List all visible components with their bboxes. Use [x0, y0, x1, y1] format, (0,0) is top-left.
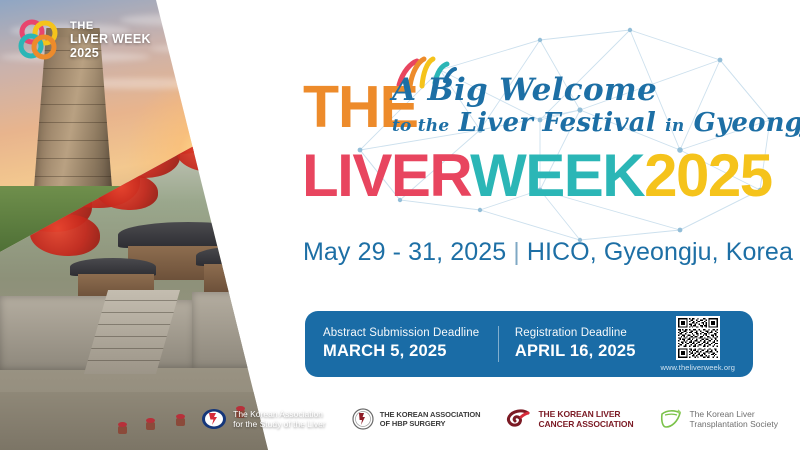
qr-block[interactable]: www.theliverweek.org	[660, 316, 735, 372]
sponsor-klca-line-2: CANCER ASSOCIATION	[538, 419, 633, 429]
registration-deadline-label: Registration Deadline	[515, 327, 661, 339]
sponsor-klca-line-1: THE KOREAN LIVER	[538, 409, 633, 419]
hero-script-city: Gyeongju, Korea!	[694, 108, 800, 138]
hero-script-festival: Liver Festival	[459, 108, 656, 138]
abstract-deadline-block: Abstract Submission Deadline MARCH 5, 20…	[323, 327, 496, 361]
hero-script-in: in	[665, 116, 684, 136]
sponsor-kahbps-text: THE KOREAN ASSOCIATION OF HBP SURGERY	[380, 410, 481, 428]
qr-code-icon[interactable]	[676, 316, 720, 360]
sponsor-klca-text: THE KOREAN LIVER CANCER ASSOCIATION	[538, 409, 633, 429]
conference-poster: THE LIVER WEEK 2025 THE A Big Welcome to…	[0, 0, 800, 450]
banner-divider	[498, 326, 499, 362]
hero-script-line-1: A Big Welcome	[392, 72, 657, 108]
abstract-deadline-label: Abstract Submission Deadline	[323, 327, 496, 339]
brand-lockup: THE LIVER WEEK 2025	[14, 16, 151, 64]
sponsor-klts[interactable]: The Korean Liver Transplantation Society	[659, 407, 778, 431]
klts-liver-logo-icon	[659, 407, 683, 431]
kasl-shield-logo-icon	[201, 408, 227, 430]
sponsor-kasl-text: The Korean Association for the Study of …	[233, 409, 326, 429]
sponsor-kasl[interactable]: The Korean Association for the Study of …	[201, 408, 326, 430]
hero-script-line-2: to the Liver Festival in Gyeongju, Korea…	[392, 108, 800, 138]
date-separator: |	[506, 238, 527, 266]
sponsor-kahbps-line-2: OF HBP SURGERY	[380, 419, 481, 428]
brand-line-2: LIVER WEEK	[70, 32, 151, 46]
title-word-week: WEEK	[470, 142, 644, 209]
title-word-liver: LIVER	[302, 142, 470, 209]
sponsor-klts-line-2: Transplantation Society	[689, 419, 778, 429]
sponsor-kahbps-line-1: THE KOREAN ASSOCIATION	[380, 410, 481, 419]
deadline-banner: Abstract Submission Deadline MARCH 5, 20…	[305, 311, 753, 377]
sponsor-kasl-line-2: for the Study of the Liver	[233, 419, 326, 429]
website-url[interactable]: www.theliverweek.org	[660, 363, 735, 372]
klca-ribbon-logo-icon	[506, 409, 532, 429]
main-title: LIVERWEEK2025	[302, 146, 772, 206]
brand-line-3: 2025	[70, 46, 151, 60]
abstract-deadline-date: MARCH 5, 2025	[323, 342, 496, 361]
sponsor-klca[interactable]: THE KOREAN LIVER CANCER ASSOCIATION	[506, 409, 633, 429]
kahbps-seal-logo-icon	[352, 408, 374, 430]
sponsor-kahbps[interactable]: THE KOREAN ASSOCIATION OF HBP SURGERY	[352, 408, 481, 430]
date-venue-line: May 29 - 31, 2025|HICO, Gyeongju, Korea	[303, 238, 793, 267]
sponsor-kasl-line-1: The Korean Association	[233, 409, 326, 419]
liver-week-rings-logo	[14, 16, 62, 64]
title-area: THE A Big Welcome to the Liver Festival …	[300, 0, 800, 300]
registration-deadline-block: Registration Deadline APRIL 16, 2025	[515, 327, 661, 361]
event-venue: HICO, Gyeongju, Korea	[527, 238, 793, 266]
title-word-year: 2025	[644, 142, 771, 209]
photo-collage	[0, 0, 300, 450]
hero-script-prefix: to the	[392, 116, 449, 136]
event-dates: May 29 - 31, 2025	[303, 238, 506, 266]
sponsor-klts-text: The Korean Liver Transplantation Society	[689, 409, 778, 429]
brand-text: THE LIVER WEEK 2025	[70, 20, 151, 60]
sponsor-klts-line-1: The Korean Liver	[689, 409, 778, 419]
sponsor-strip: The Korean Association for the Study of …	[0, 388, 800, 450]
registration-deadline-date: APRIL 16, 2025	[515, 342, 661, 361]
brand-line-1: THE	[70, 20, 151, 32]
